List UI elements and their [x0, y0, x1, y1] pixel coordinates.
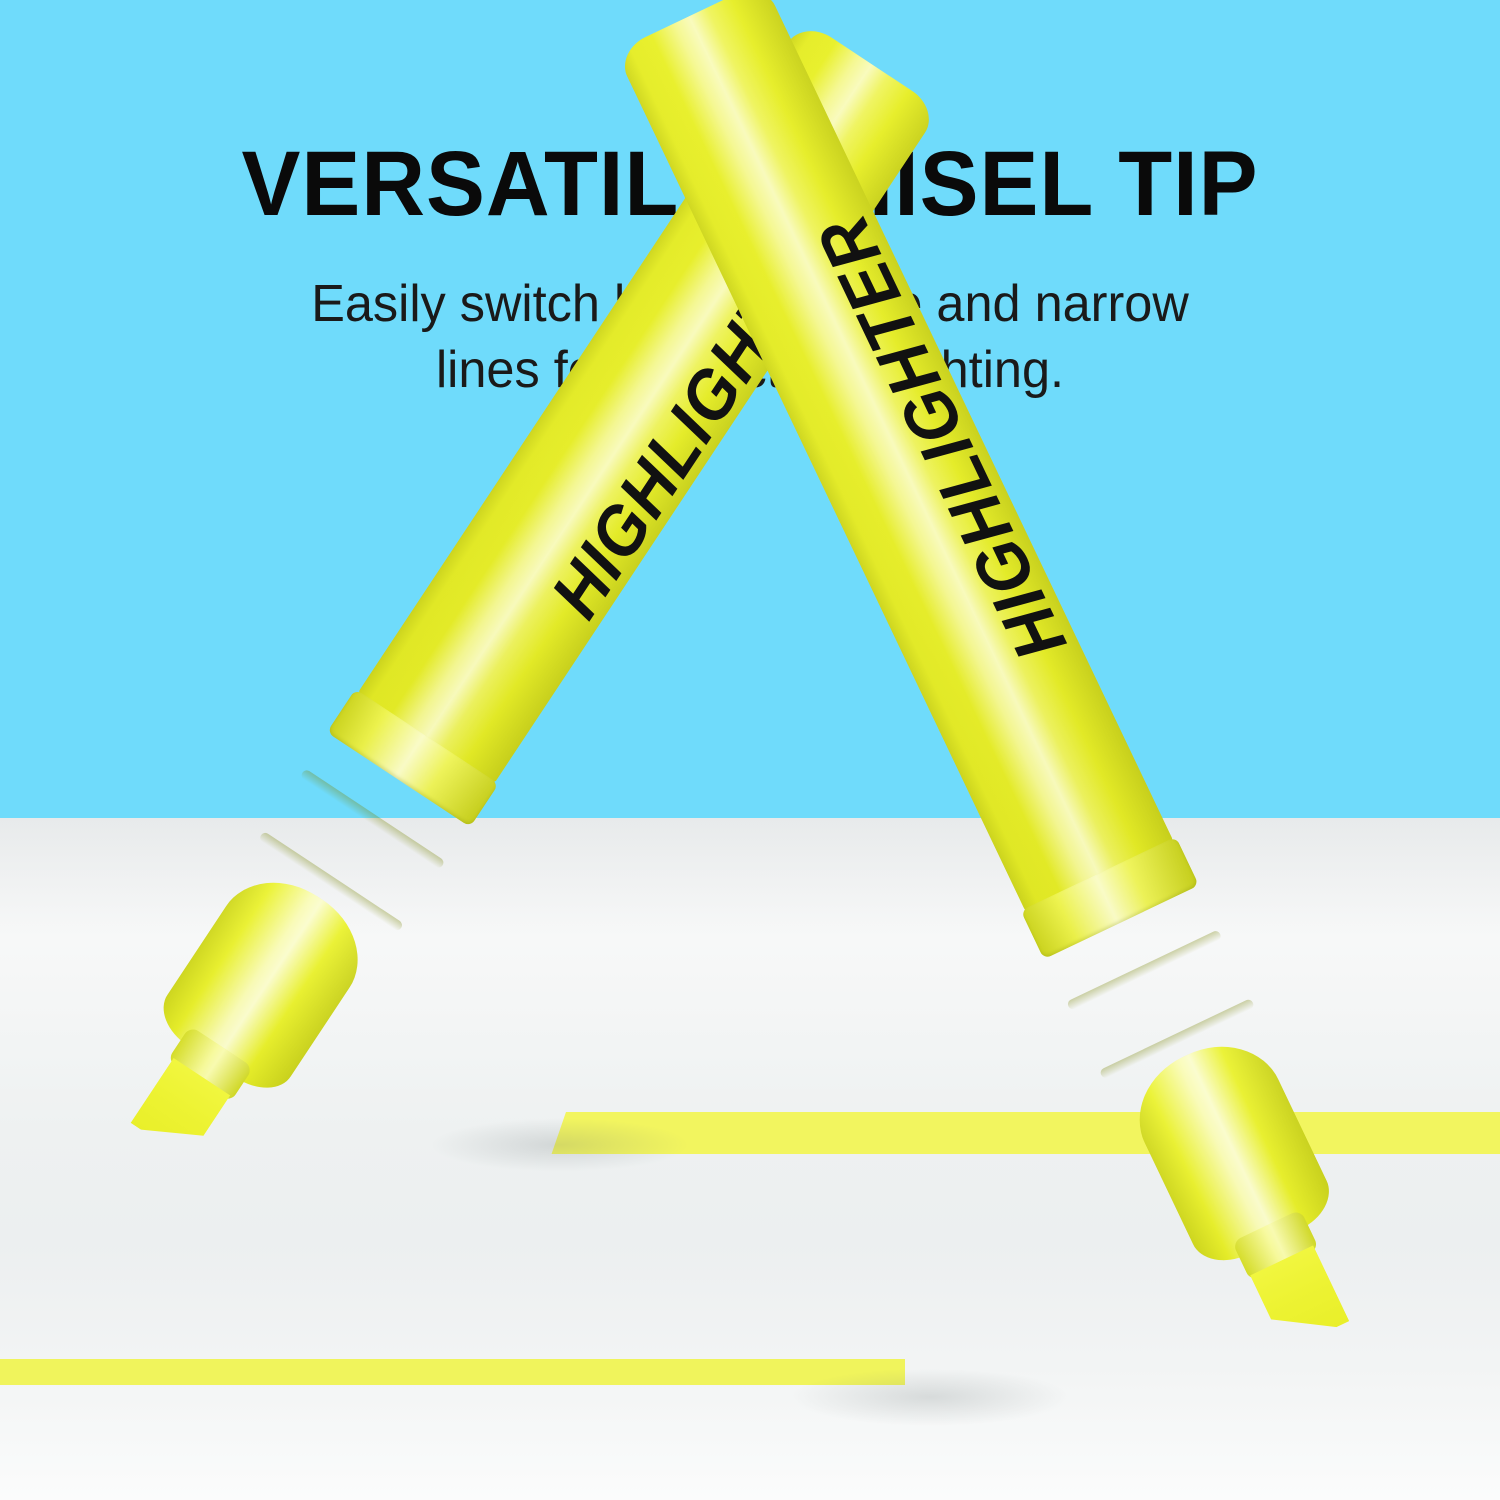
product-banner: VERSATILE CHISEL TIP Easily switch betwe…	[0, 0, 1500, 1500]
right-pen-ring-upper	[1066, 929, 1222, 1010]
narrow-highlight-stroke	[580, 1112, 1500, 1154]
wide-highlight-stroke	[0, 1359, 905, 1385]
